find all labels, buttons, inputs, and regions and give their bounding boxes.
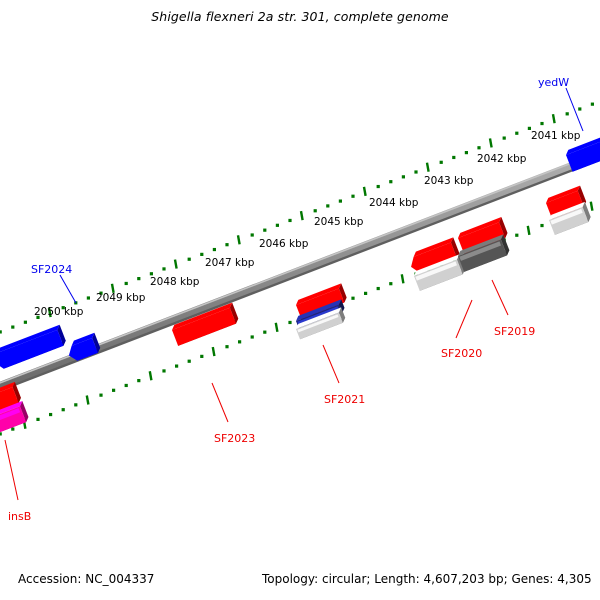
leader-line-sf2019 [492, 280, 508, 315]
ruler-tick-label: 2050 kbp [34, 306, 83, 318]
ruler-tick-label: 2047 kbp [205, 257, 254, 269]
gene-label-sf2021[interactable]: SF2021 [324, 393, 365, 406]
gene-label-sf2020[interactable]: SF2020 [441, 347, 482, 360]
gene-label-yedw[interactable]: yedW [538, 76, 569, 89]
leader-line-insb [5, 440, 18, 500]
ruler-tick-label: 2048 kbp [150, 276, 199, 288]
genome-summary-text: Topology: circular; Length: 4,607,203 bp… [262, 572, 592, 586]
ruler-tick-label: 2043 kbp [424, 175, 473, 187]
gene-label-sf2023[interactable]: SF2023 [214, 432, 255, 445]
genome-map-canvas: Shigella flexneri 2a str. 301, complete … [0, 0, 600, 600]
gene-label-sf2024[interactable]: SF2024 [31, 263, 72, 276]
ruler-tick-label: 2045 kbp [314, 216, 363, 228]
page-title: Shigella flexneri 2a str. 301, complete … [0, 9, 600, 24]
ruler-tick-label: 2044 kbp [369, 197, 418, 209]
leader-line-sf2023 [212, 383, 228, 422]
ruler-tick-label: 2041 kbp [531, 130, 580, 142]
ruler-tick-label: 2042 kbp [477, 153, 526, 165]
leader-line-sf2020 [456, 300, 472, 338]
feature-glyphs [0, 133, 600, 433]
accession-text: Accession: NC_004337 [18, 572, 154, 586]
genome-graphics-layer [0, 0, 600, 600]
gene-label-sf2019[interactable]: SF2019 [494, 325, 535, 338]
leader-line-sf2024 [60, 275, 76, 303]
ruler-tick-label: 2049 kbp [96, 292, 145, 304]
gene-label-insb[interactable]: insB [8, 510, 31, 523]
ruler-tick-label: 2046 kbp [259, 238, 308, 250]
label-leader-lines [5, 88, 583, 500]
leader-line-sf2021 [323, 345, 339, 383]
